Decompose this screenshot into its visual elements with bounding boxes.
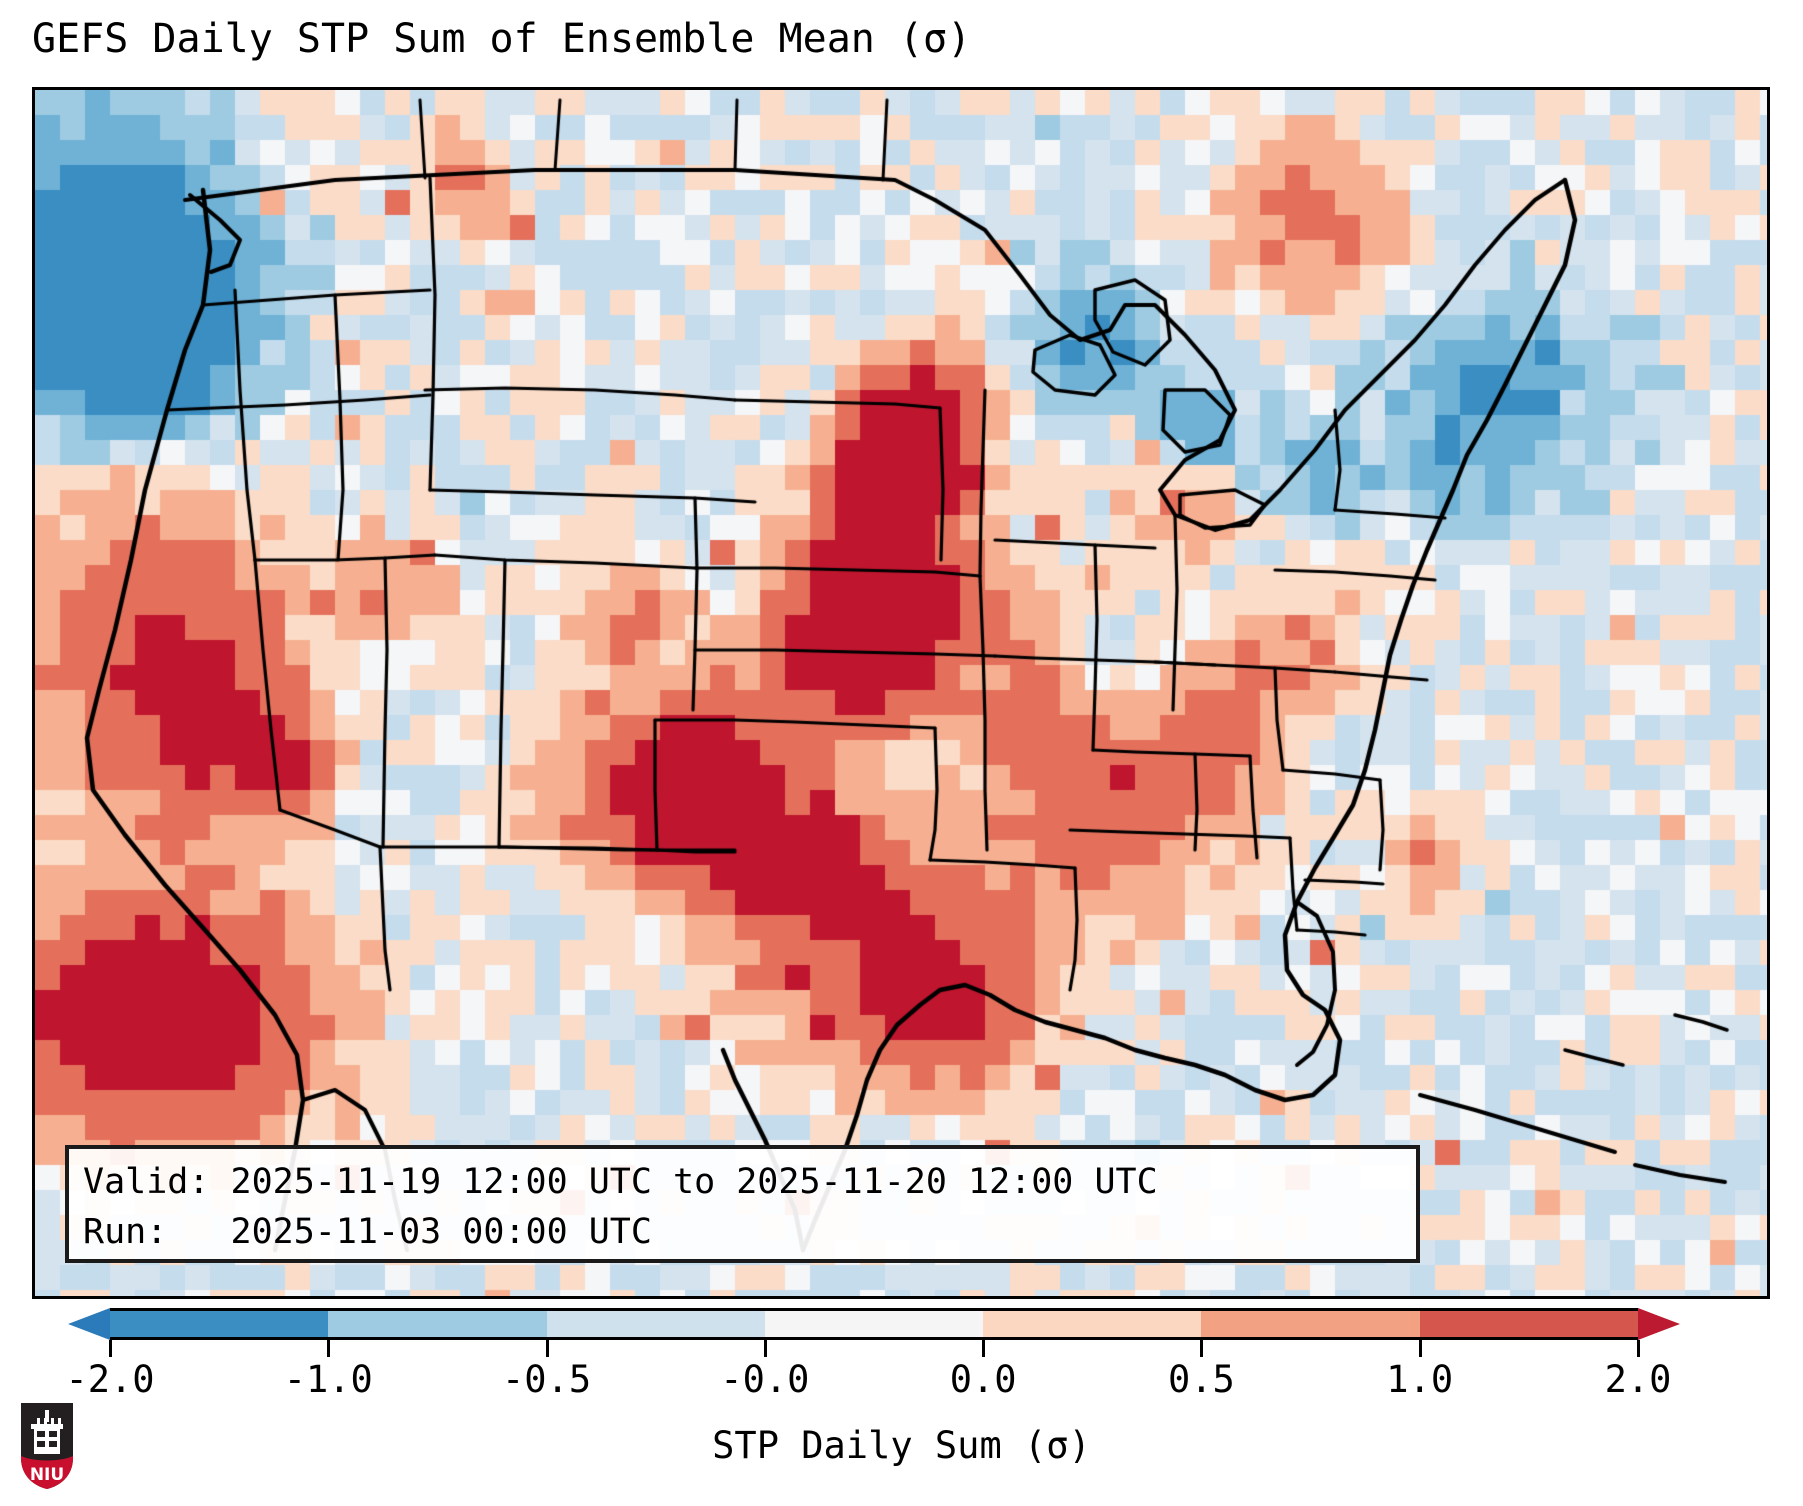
colorbar-segment-4 [983, 1311, 1201, 1337]
colorbar-tick-4 [982, 1340, 985, 1357]
figure-root: GEFS Daily STP Sum of Ensemble Mean (σ) … [0, 0, 1803, 1506]
colorbar-segment-2 [547, 1311, 765, 1337]
colorbar-tick-6 [1419, 1340, 1422, 1357]
colorbar-tick-5 [1200, 1340, 1203, 1357]
colorbar-tick-label-4: 0.0 [950, 1358, 1017, 1401]
colorbar-tick-label-5: 0.5 [1168, 1358, 1235, 1401]
colorbar-tick-labels: -2.0-1.0-0.5-0.00.00.51.02.0 [0, 1358, 1803, 1404]
colorbar-segment-1 [328, 1311, 546, 1337]
colorbar-tick-7 [1637, 1340, 1640, 1357]
colorbar-segment-6 [1420, 1311, 1638, 1337]
map-panel [32, 87, 1770, 1299]
colorbar-segments [110, 1308, 1638, 1340]
page-title: GEFS Daily STP Sum of Ensemble Mean (σ) [32, 16, 971, 62]
niu-logo: NIU [16, 1398, 78, 1494]
annotation-run-line: Run: 2025-11-03 00:00 UTC [83, 1207, 1404, 1257]
colorbar-tick-1 [327, 1340, 330, 1357]
colorbar-tick-label-7: 2.0 [1605, 1358, 1672, 1401]
colorbar-tick-label-2: -0.5 [502, 1358, 591, 1401]
colorbar-over-arrow-icon [1638, 1308, 1680, 1340]
colorbar-segment-0 [110, 1311, 328, 1337]
niu-logo-text: NIU [30, 1465, 64, 1485]
annotation-valid-line: Valid: 2025-11-19 12:00 UTC to 2025-11-2… [83, 1157, 1404, 1207]
colorbar-tick-3 [764, 1340, 767, 1357]
colorbar-tick-label-3: -0.0 [720, 1358, 809, 1401]
colorbar-ticks [0, 1340, 1803, 1360]
colorbar-tick-label-0: -2.0 [65, 1358, 154, 1401]
colorbar-tick-2 [546, 1340, 549, 1357]
colorbar [32, 1308, 1770, 1340]
colorbar-under-arrow-icon [68, 1308, 110, 1340]
validity-annotation-box: Valid: 2025-11-19 12:00 UTC to 2025-11-2… [65, 1145, 1420, 1263]
colorbar-axis-label: STP Daily Sum (σ) [0, 1424, 1803, 1467]
colorbar-tick-label-6: 1.0 [1386, 1358, 1453, 1401]
colorbar-tick-0 [109, 1340, 112, 1357]
colorbar-segment-3 [765, 1311, 983, 1337]
colorbar-tick-label-1: -1.0 [284, 1358, 373, 1401]
stp-heatmap-canvas [35, 90, 1767, 1296]
colorbar-segment-5 [1201, 1311, 1419, 1337]
